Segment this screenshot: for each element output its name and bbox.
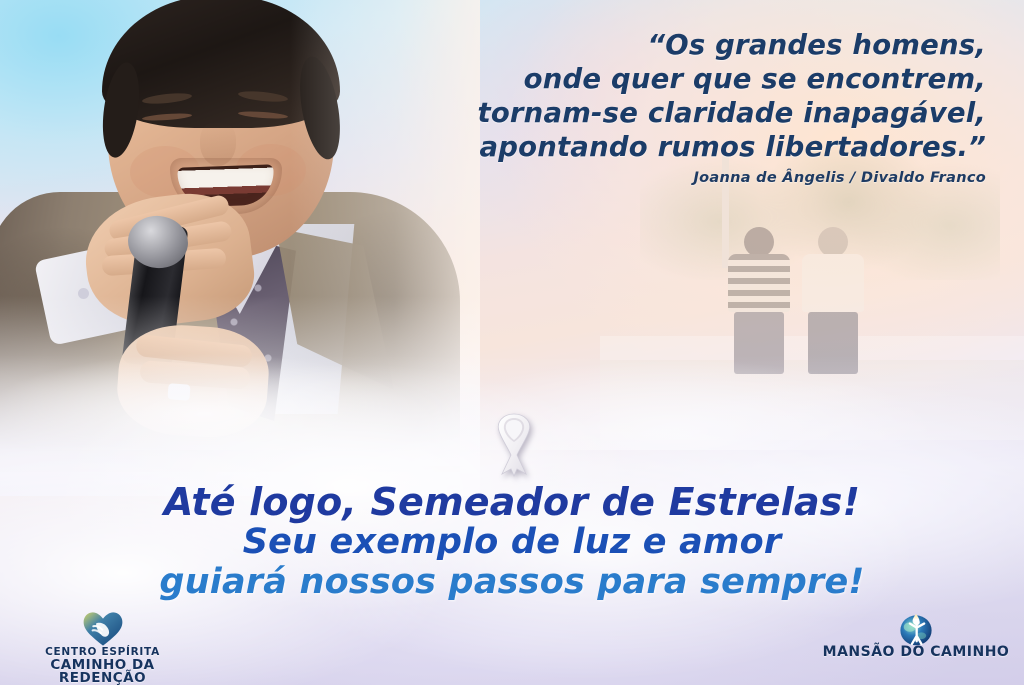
globe-figure-icon — [816, 612, 1016, 646]
heart-hands-icon — [10, 612, 195, 646]
logo-mansao-do-caminho: MANSÃO DO CAMINHO — [816, 612, 1016, 659]
quote-attribution: Joanna de Ângelis / Divaldo Franco — [366, 170, 986, 186]
logo-left-line-2: CAMINHO DA REDENÇÃO — [10, 659, 195, 685]
quote-line-4: apontando rumos libertadores.” — [366, 130, 986, 164]
quote-line-3: tornam-se claridade inapagável, — [366, 96, 986, 130]
logo-right-line-1: MANSÃO DO CAMINHO — [816, 646, 1016, 659]
tribute-message: Até logo, Semeador de Estrelas! Seu exem… — [0, 482, 1024, 602]
quote-text: “Os grandes homens, onde quer que se enc… — [366, 28, 986, 164]
ghost-figure-torso — [728, 254, 790, 312]
memorial-poster: “Os grandes homens, onde quer que se enc… — [0, 0, 1024, 685]
message-line-2: Seu exemplo de luz e amor — [0, 522, 1024, 562]
ghost-figure-torso — [802, 254, 864, 312]
quote-line-1: “Os grandes homens, — [366, 28, 986, 62]
quote-line-2: onde quer que se encontrem, — [366, 62, 986, 96]
ghost-figure-head — [744, 227, 774, 257]
mourning-ribbon-icon — [478, 408, 550, 480]
message-line-3: guiará nossos passos para sempre! — [0, 562, 1024, 602]
message-line-1: Até logo, Semeador de Estrelas! — [0, 482, 1024, 522]
ghost-figure-head — [818, 227, 848, 257]
logo-centro-espirita: CENTRO ESPÍRITA CAMINHO DA REDENÇÃO — [10, 612, 195, 685]
